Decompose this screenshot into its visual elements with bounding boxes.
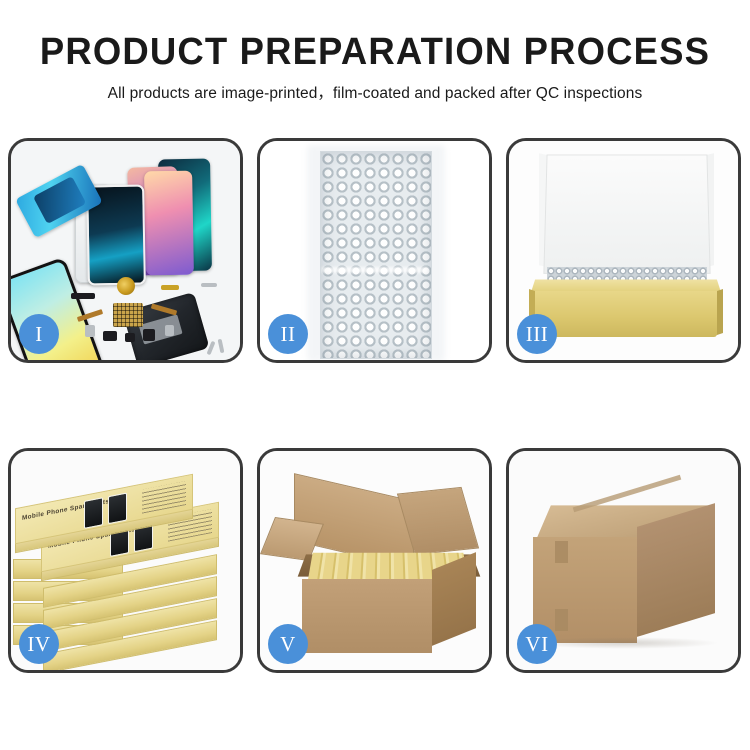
step-badge-4: IV [19,624,59,664]
step-badge-2: II [268,314,308,354]
step-panel-3[interactable]: III [506,138,741,363]
step-panel-2[interactable]: II [257,138,492,363]
step-panel-4[interactable]: Mobile Phone Spare Parts Mobile Phone Sp… [8,448,243,673]
step-panel-6[interactable]: VI [506,448,741,673]
step-badge-6: VI [517,624,557,664]
step-badge-5: V [268,624,308,664]
process-steps-grid: I II III [8,138,742,673]
page-title: PRODUCT PREPARATION PROCESS [15,30,735,74]
step-badge-3: III [517,314,557,354]
step-panel-5[interactable]: V [257,448,492,673]
step-badge-1: I [19,314,59,354]
page-subtitle: All products are image-printed，film-coat… [0,83,750,105]
header: PRODUCT PREPARATION PROCESS All products… [0,0,750,105]
step-panel-1[interactable]: I [8,138,243,363]
